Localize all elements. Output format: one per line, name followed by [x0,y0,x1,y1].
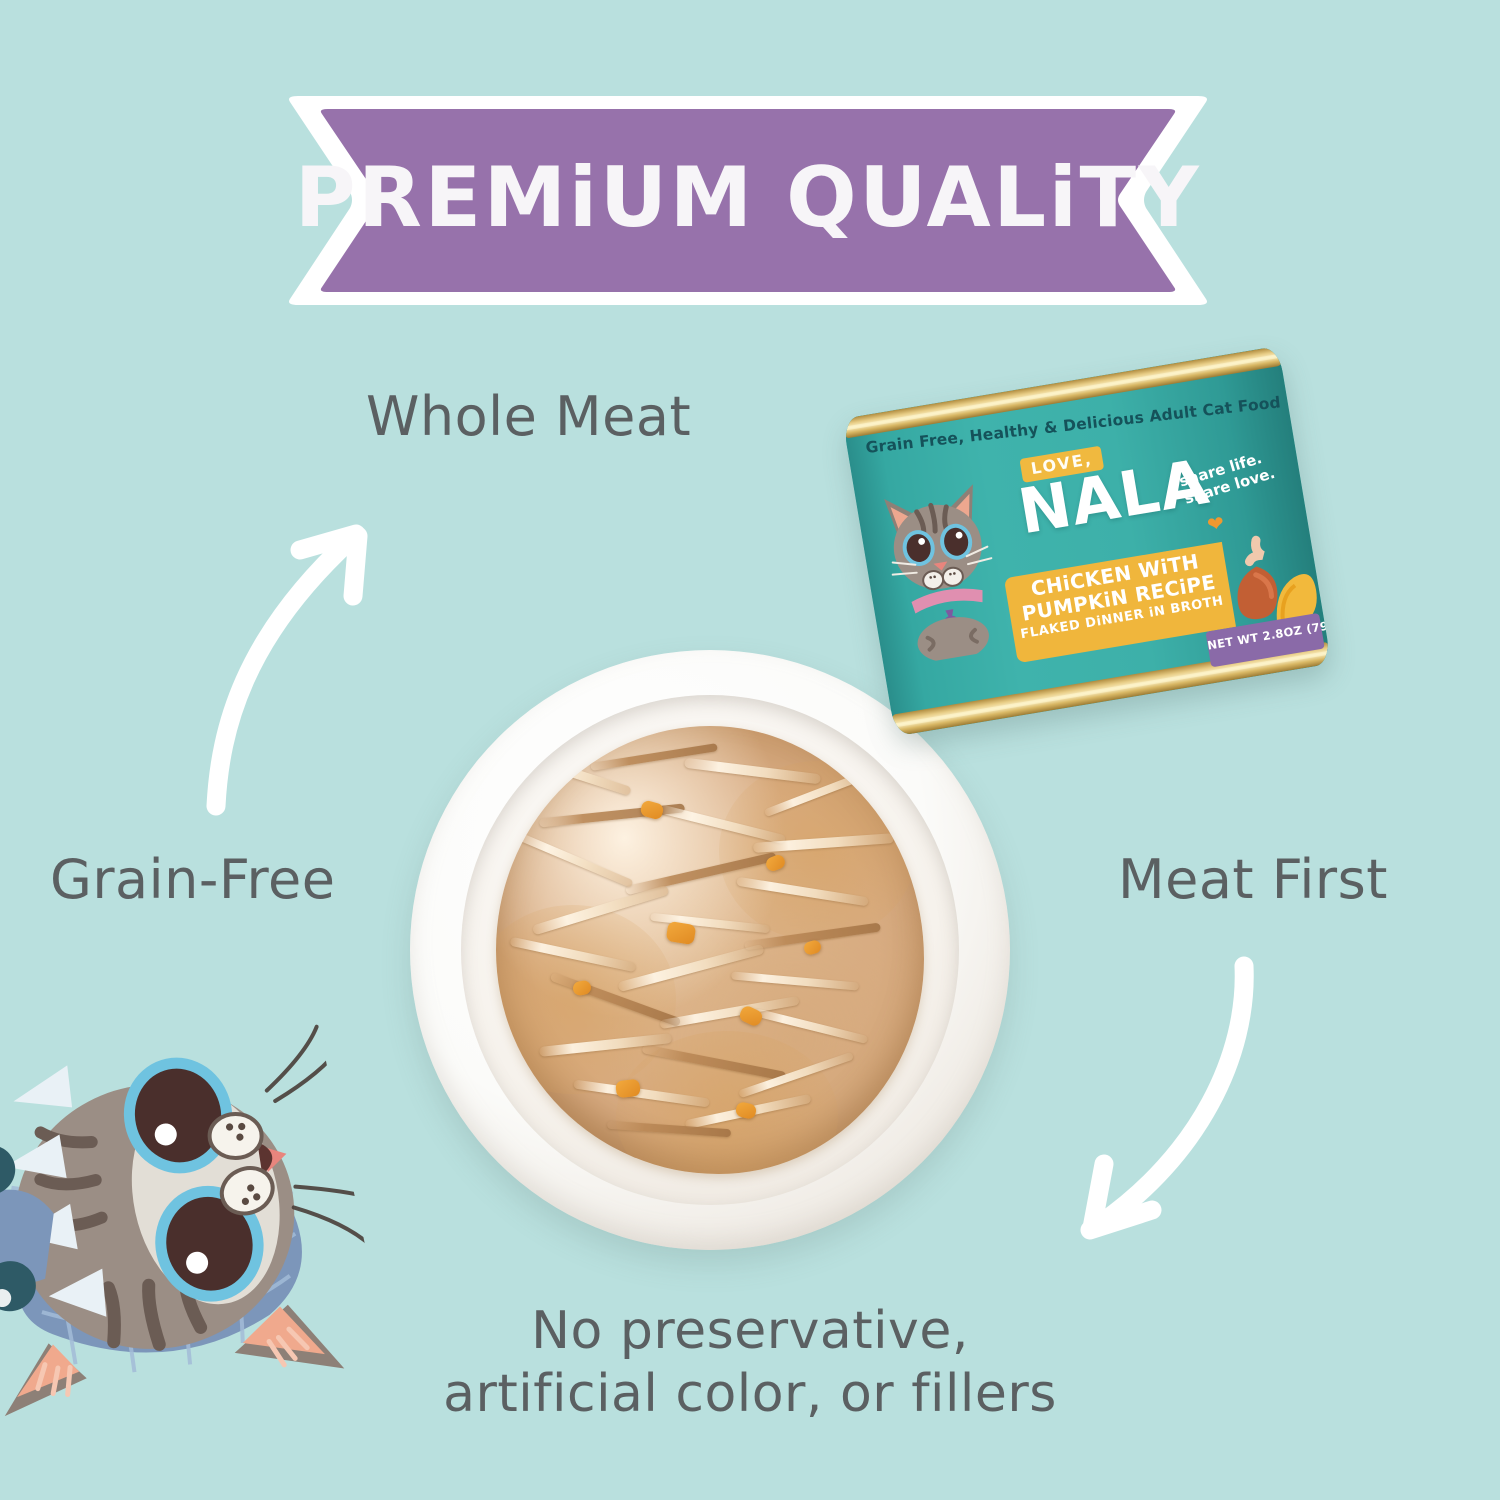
poster-canvas: PREMiUM QUALiTY Whole Meat Grain-Free Me… [0,0,1500,1500]
premium-quality-banner: PREMiUM QUALiTY [268,88,1228,313]
cat-food-can: Grain Free, Healthy & Delicious Adult Ca… [820,315,1356,769]
label-meat-first: Meat First [1118,848,1388,911]
nala-cat-mascot [0,946,393,1466]
label-whole-meat: Whole Meat [366,385,691,448]
banner-title: PREMiUM QUALiTY [268,88,1228,313]
curved-arrow-up-right-icon [178,488,408,828]
bowl-interior [461,695,959,1205]
heart-icon: ❤ [1206,512,1227,533]
chicken-pumpkin-food [496,726,924,1175]
curved-arrow-down-left-icon [1048,938,1288,1268]
label-no-preservative-line1: No preservative, [531,1301,969,1361]
can-body: Grain Free, Healthy & Delicious Adult Ca… [842,346,1331,737]
label-grain-free: Grain-Free [50,848,335,911]
